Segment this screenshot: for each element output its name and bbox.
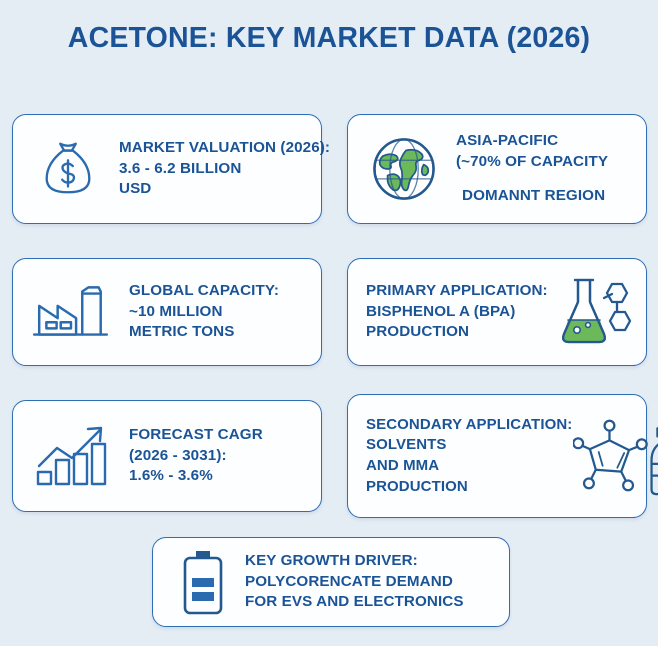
card-line: USD <box>119 179 330 200</box>
card-line: ASIA-PACIFIC <box>456 131 608 152</box>
battery-icon <box>175 545 231 619</box>
card-line: GLOBAL CAPACITY: <box>129 281 279 302</box>
flask-molecule-icon <box>548 273 640 351</box>
card-line: FOR EVS AND ELECTRONICS <box>245 592 464 613</box>
card-primary-application: PRIMARY APPLICATION: BISPHENOL A (BPA) P… <box>347 258 647 366</box>
globe-icon <box>366 131 442 207</box>
card-line: PRODUCTION <box>366 322 548 343</box>
card-dominant-region: ASIA-PACIFIC (~70% OF CAPACITY DOMANNT R… <box>347 114 647 224</box>
card-line: BISPHENOL A (BPA) <box>366 302 548 323</box>
card-market-valuation-text: MARKET VALUATION (2026): 3.6 - 6.2 BILLI… <box>119 138 330 200</box>
card-line: 3.6 - 6.2 BILLION <box>119 159 330 180</box>
card-secondary-application-text: SECONDARY APPLICATION: SOLVENTS AND MMA … <box>366 415 572 497</box>
card-line: FORECAST CAGR <box>129 425 263 446</box>
money-bag-icon <box>29 130 107 208</box>
card-line: PRODUCTION <box>366 477 572 498</box>
card-line: SECONDARY APPLICATION: <box>366 415 572 436</box>
card-global-capacity: GLOBAL CAPACITY: ~10 MILLION METRIC TONS <box>12 258 322 366</box>
card-key-growth-driver: KEY GROWTH DRIVER: POLYCORENCATE DEMAND … <box>152 537 510 627</box>
card-line: POLYCORENCATE DEMAND <box>245 572 464 593</box>
card-line: KEY GROWTH DRIVER: <box>245 551 464 572</box>
card-key-growth-driver-text: KEY GROWTH DRIVER: POLYCORENCATE DEMAND … <box>245 551 464 613</box>
card-line: PRIMARY APPLICATION: <box>366 281 548 302</box>
molecule-spray-bottle-icon <box>572 408 658 504</box>
card-forecast-cagr: FORECAST CAGR (2026 - 3031): 1.6% - 3.6% <box>12 400 322 512</box>
card-market-valuation: MARKET VALUATION (2026): 3.6 - 6.2 BILLI… <box>12 114 322 224</box>
card-line: SOLVENTS <box>366 435 572 456</box>
card-line: (2026 - 3031): <box>129 446 263 467</box>
card-line: DOMANNT REGION <box>456 186 608 207</box>
card-line: ~10 MILLION <box>129 302 279 323</box>
growth-chart-icon <box>29 419 115 493</box>
factory-icon <box>29 277 115 347</box>
card-line: METRIC TONS <box>129 322 279 343</box>
card-dominant-region-text: ASIA-PACIFIC (~70% OF CAPACITY DOMANNT R… <box>456 131 608 206</box>
card-global-capacity-text: GLOBAL CAPACITY: ~10 MILLION METRIC TONS <box>129 281 279 343</box>
card-line: 1.6% - 3.6% <box>129 466 263 487</box>
card-line: (~70% OF CAPACITY <box>456 152 608 173</box>
card-primary-application-text: PRIMARY APPLICATION: BISPHENOL A (BPA) P… <box>366 281 548 343</box>
card-forecast-cagr-text: FORECAST CAGR (2026 - 3031): 1.6% - 3.6% <box>129 425 263 487</box>
card-line: MARKET VALUATION (2026): <box>119 138 330 159</box>
card-line: AND MMA <box>366 456 572 477</box>
page-title: ACETONE: KEY MARKET DATA (2026) <box>0 22 658 55</box>
card-secondary-application: SECONDARY APPLICATION: SOLVENTS AND MMA … <box>347 394 647 518</box>
